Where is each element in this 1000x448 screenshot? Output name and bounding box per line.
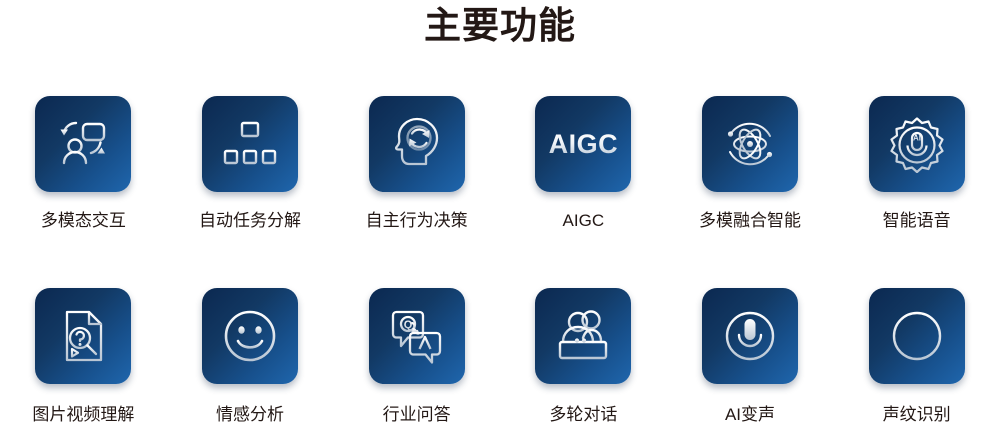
feature-cell-autonomous-decision[interactable]: 自主行为决策 [333, 96, 500, 288]
feature-label: AI变声 [725, 404, 775, 426]
feature-tile[interactable]: AIGC [535, 96, 631, 192]
feature-tile[interactable] [202, 96, 298, 192]
qa-speech-bubbles-icon: Q [388, 307, 446, 365]
feature-cell-multimodal-interaction[interactable]: 多模态交互 [0, 96, 167, 288]
voiceprint-waveform-icon [889, 308, 945, 364]
multimodal-interaction-icon [54, 115, 112, 173]
atom-orbit-icon [720, 114, 780, 174]
feature-tile[interactable] [202, 288, 298, 384]
feature-label: 多轮对话 [549, 404, 617, 426]
feature-tile[interactable] [35, 288, 131, 384]
two-people-panel-icon [553, 309, 613, 363]
feature-label: 情感分析 [216, 404, 284, 426]
feature-label: 多模态交互 [41, 210, 126, 232]
feature-tile[interactable] [869, 288, 965, 384]
feature-overview-page: 主要功能 [0, 0, 1000, 447]
aigc-text-icon: AIGC [549, 131, 619, 158]
feature-label: 多模融合智能 [699, 210, 801, 232]
feature-tile[interactable]: Q [369, 288, 465, 384]
feature-label: 图片视频理解 [32, 404, 134, 426]
feature-label: 智能语音 [883, 210, 951, 232]
feature-label: 声纹识别 [883, 404, 951, 426]
feature-cell-intelligent-voice[interactable]: AI 智能语音 [833, 96, 1000, 288]
feature-tile[interactable] [369, 96, 465, 192]
feature-tile[interactable] [535, 288, 631, 384]
feature-cell-image-video-understanding[interactable]: 图片视频理解 [0, 288, 167, 448]
feature-cell-aigc[interactable]: AIGC AIGC [500, 96, 667, 288]
feature-cell-industry-qa[interactable]: Q 行业问答 [333, 288, 500, 448]
feature-tile[interactable]: AI [869, 96, 965, 192]
microphone-circle-icon [722, 308, 778, 364]
feature-tile[interactable] [702, 288, 798, 384]
feature-label: 自主行为决策 [366, 210, 468, 232]
feature-cell-voiceprint-recognition[interactable]: 声纹识别 [833, 288, 1000, 448]
smiley-face-icon [222, 308, 278, 364]
document-magnifier-question-icon [56, 308, 110, 364]
feature-cell-multi-turn-dialogue[interactable]: 多轮对话 [500, 288, 667, 448]
feature-label: 行业问答 [383, 404, 451, 426]
qa-bubble-q-label: Q [403, 319, 412, 331]
head-refresh-decision-icon [388, 115, 446, 173]
feature-cell-task-decomposition[interactable]: 自动任务分解 [167, 96, 334, 288]
feature-cell-ai-voice-change[interactable]: AI变声 [667, 288, 834, 448]
feature-label: AIGC [563, 210, 605, 232]
feature-tile[interactable] [35, 96, 131, 192]
feature-cell-sentiment-analysis[interactable]: 情感分析 [167, 288, 334, 448]
task-decomposition-hierarchy-icon [223, 117, 277, 171]
gear-microphone-ai-icon: AI [888, 115, 946, 173]
page-title: 主要功能 [0, 2, 1000, 50]
feature-grid: 多模态交互 [0, 96, 1000, 448]
feature-cell-fusion-intelligence[interactable]: 多模融合智能 [667, 96, 834, 288]
feature-tile[interactable] [702, 96, 798, 192]
gear-mic-ai-label: AI [913, 134, 921, 143]
feature-label: 自动任务分解 [199, 210, 301, 232]
